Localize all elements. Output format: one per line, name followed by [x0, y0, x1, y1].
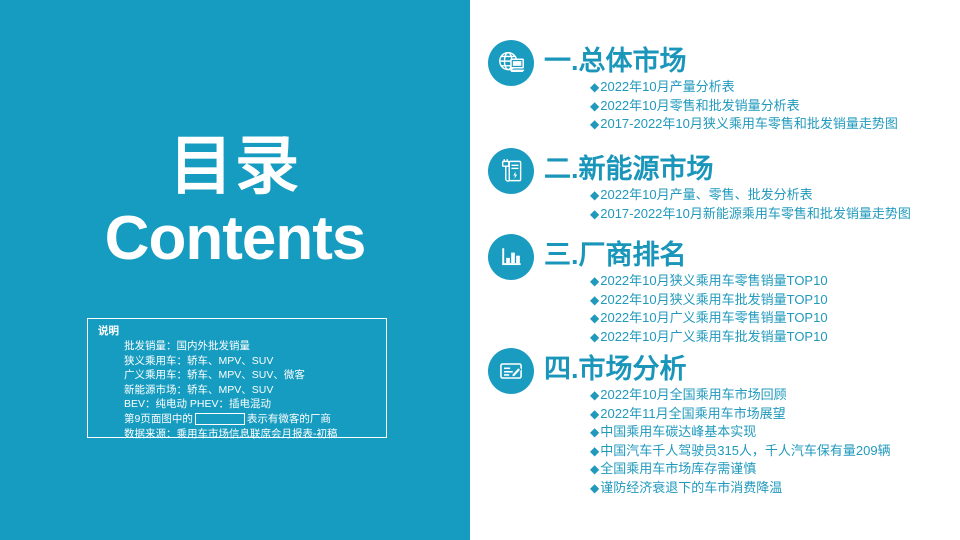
diamond-bullet-icon: ◆ — [590, 99, 599, 113]
toc-item[interactable]: ◆谨防经济衰退下的车市消费降温 — [590, 479, 958, 498]
diamond-bullet-icon: ◆ — [590, 274, 599, 288]
toc-section-4[interactable]: 四.市场分析 ◆2022年10月全国乘用车市场回顾 ◆2022年11月全国乘用车… — [488, 348, 958, 497]
toc-item-label: 2022年10月狭义乘用车批发销量TOP10 — [600, 292, 827, 307]
title-block: 目录 Contents — [0, 134, 470, 271]
bar-chart-icon — [488, 234, 534, 280]
toc-item[interactable]: ◆2022年10月零售和批发销量分析表 — [590, 97, 958, 116]
slide-contents: 目录 Contents 说明 批发销量：国内外批发销量 狭义乘用车：轿车、MPV… — [0, 0, 960, 540]
note-page9-prefix: 第9页面图中的 — [124, 413, 193, 425]
toc-item-label: 2022年11月全国乘用车市场展望 — [600, 406, 785, 421]
diamond-bullet-icon: ◆ — [590, 80, 599, 94]
globe-laptop-icon — [488, 40, 534, 86]
diamond-bullet-icon: ◆ — [590, 311, 599, 325]
toc-item[interactable]: ◆2022年11月全国乘用车市场展望 — [590, 405, 958, 424]
ev-charging-station-icon — [488, 148, 534, 194]
toc-item-label: 2022年10月广义乘用车批发销量TOP10 — [600, 329, 827, 344]
toc-item-label: 2022年10月全国乘用车市场回顾 — [600, 387, 786, 402]
toc-item[interactable]: ◆2022年10月狭义乘用车零售销量TOP10 — [590, 272, 958, 291]
note-line-list: 批发销量：国内外批发销量 狭义乘用车：轿车、MPV、SUV 广义乘用车：轿车、M… — [96, 339, 386, 441]
toc-item[interactable]: ◆2022年10月全国乘用车市场回顾 — [590, 386, 958, 405]
diamond-bullet-icon: ◆ — [590, 388, 599, 402]
diamond-bullet-icon: ◆ — [590, 293, 599, 307]
legend-note-box: 说明 批发销量：国内外批发销量 狭义乘用车：轿车、MPV、SUV 广义乘用车：轿… — [87, 318, 387, 438]
diamond-bullet-icon: ◆ — [590, 444, 599, 458]
note-line: 广义乘用车：轿车、MPV、SUV、微客 — [124, 368, 386, 383]
note-line: 狭义乘用车：轿车、MPV、SUV — [124, 354, 386, 369]
toc-item-label: 谨防经济衰退下的车市消费降温 — [600, 480, 782, 495]
toc-item[interactable]: ◆2022年10月广义乘用车批发销量TOP10 — [590, 328, 958, 347]
toc-item-label: 2017-2022年10月狭义乘用车零售和批发销量走势图 — [600, 116, 898, 131]
toc-item[interactable]: ◆2017-2022年10月新能源乘用车零售和批发销量走势图 — [590, 205, 958, 224]
toc-item[interactable]: ◆2022年10月狭义乘用车批发销量TOP10 — [590, 291, 958, 310]
toc-item-label: 2022年10月产量、零售、批发分析表 — [600, 187, 812, 202]
toc-item-label: 2022年10月广义乘用车零售销量TOP10 — [600, 310, 827, 325]
toc-item[interactable]: ◆2022年10月广义乘用车零售销量TOP10 — [590, 309, 958, 328]
diamond-bullet-icon: ◆ — [590, 188, 599, 202]
toc-section-4-items: ◆2022年10月全国乘用车市场回顾 ◆2022年11月全国乘用车市场展望 ◆中… — [488, 386, 958, 497]
diamond-bullet-icon: ◆ — [590, 330, 599, 344]
toc-item-label: 2022年10月零售和批发销量分析表 — [600, 98, 799, 113]
micro-van-marker-box — [195, 413, 245, 425]
note-line: 批发销量：国内外批发销量 — [124, 339, 386, 354]
toc-section-3-title: 三.厂商排名 — [544, 234, 687, 276]
note-line-page9: 第9页面图中的表示有微客的厂商 — [124, 412, 386, 427]
diamond-bullet-icon: ◆ — [590, 407, 599, 421]
diamond-bullet-icon: ◆ — [590, 117, 599, 131]
toc-section-2-title: 二.新能源市场 — [544, 148, 714, 190]
toc-item-label: 2017-2022年10月新能源乘用车零售和批发销量走势图 — [600, 206, 911, 221]
toc-item[interactable]: ◆全国乘用车市场库存需谨慎 — [590, 460, 958, 479]
diamond-bullet-icon: ◆ — [590, 462, 599, 476]
toc-item[interactable]: ◆中国乘用车碳达峰基本实现 — [590, 423, 958, 442]
toc-item-label: 2022年10月产量分析表 — [600, 79, 734, 94]
toc-section-3-items: ◆2022年10月狭义乘用车零售销量TOP10 ◆2022年10月狭义乘用车批发… — [488, 272, 958, 346]
toc-section-2-items: ◆2022年10月产量、零售、批发分析表 ◆2017-2022年10月新能源乘用… — [488, 186, 958, 223]
page-title-cn: 目录 — [0, 134, 470, 198]
note-line: 新能源市场：轿车、MPV、SUV — [124, 383, 386, 398]
right-toc-panel: 一.总体市场 ◆2022年10月产量分析表 ◆2022年10月零售和批发销量分析… — [470, 0, 960, 540]
toc-section-4-title: 四.市场分析 — [544, 348, 687, 390]
toc-item-label: 全国乘用车市场库存需谨慎 — [600, 461, 756, 476]
toc-section-1[interactable]: 一.总体市场 ◆2022年10月产量分析表 ◆2022年10月零售和批发销量分析… — [488, 40, 958, 134]
toc-section-3[interactable]: 三.厂商排名 ◆2022年10月狭义乘用车零售销量TOP10 ◆2022年10月… — [488, 234, 958, 346]
note-line-source: 数据来源：乘用车市场信息联席会月报表-初稿 — [124, 427, 386, 442]
toc-item[interactable]: ◆中国汽车千人驾驶员315人，千人汽车保有量209辆 — [590, 442, 958, 461]
note-page9-suffix: 表示有微客的厂商 — [247, 413, 331, 425]
diamond-bullet-icon: ◆ — [590, 425, 599, 439]
document-pen-icon — [488, 348, 534, 394]
note-heading: 说明 — [98, 324, 386, 339]
note-line: BEV：纯电动 PHEV：插电混动 — [124, 397, 386, 412]
toc-item[interactable]: ◆2022年10月产量、零售、批发分析表 — [590, 186, 958, 205]
toc-section-1-title: 一.总体市场 — [544, 40, 687, 82]
toc-item-label: 中国乘用车碳达峰基本实现 — [600, 424, 756, 439]
toc-section-1-items: ◆2022年10月产量分析表 ◆2022年10月零售和批发销量分析表 ◆2017… — [488, 78, 958, 134]
page-title-en: Contents — [0, 206, 470, 271]
toc-item[interactable]: ◆2017-2022年10月狭义乘用车零售和批发销量走势图 — [590, 115, 958, 134]
toc-section-2[interactable]: 二.新能源市场 ◆2022年10月产量、零售、批发分析表 ◆2017-2022年… — [488, 148, 958, 223]
toc-item[interactable]: ◆2022年10月产量分析表 — [590, 78, 958, 97]
diamond-bullet-icon: ◆ — [590, 481, 599, 495]
toc-item-label: 中国汽车千人驾驶员315人，千人汽车保有量209辆 — [600, 443, 890, 458]
left-title-panel: 目录 Contents 说明 批发销量：国内外批发销量 狭义乘用车：轿车、MPV… — [0, 0, 470, 540]
diamond-bullet-icon: ◆ — [590, 207, 599, 221]
toc-item-label: 2022年10月狭义乘用车零售销量TOP10 — [600, 273, 827, 288]
